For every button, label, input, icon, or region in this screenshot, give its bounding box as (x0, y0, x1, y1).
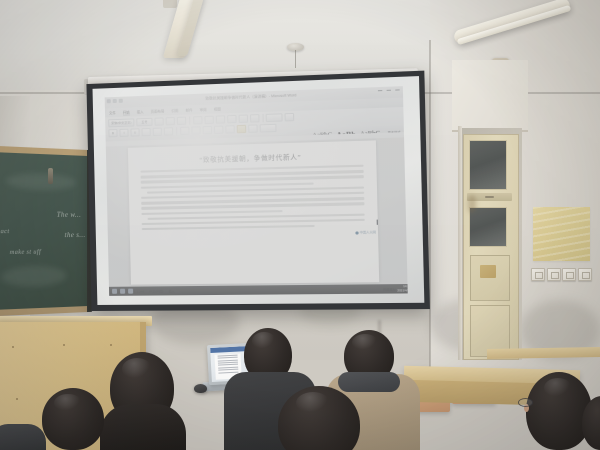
hair-drape (100, 404, 186, 450)
align-center-icon[interactable] (213, 126, 222, 134)
document-text-line (142, 219, 365, 226)
wall-paper-patch (533, 207, 590, 261)
taskbar-clock[interactable]: 14:06 2021/4/13 (397, 285, 407, 293)
redo-icon[interactable] (119, 98, 123, 102)
borders-icon[interactable] (259, 124, 276, 133)
laptop-word-titlebar (210, 346, 249, 353)
strikethrough-icon[interactable] (142, 128, 151, 136)
windows-taskbar[interactable]: 14:06 2021/4/13 (109, 284, 408, 296)
document-page[interactable]: “致敬抗美援朝，争做时代新人” (128, 140, 379, 284)
socket-icon (582, 272, 590, 279)
power-outlet[interactable] (578, 268, 592, 281)
detector-wire (295, 50, 296, 68)
laptop-text-line (218, 371, 238, 373)
wall-corner-edge (429, 40, 431, 370)
shrink-font-icon[interactable] (166, 117, 175, 125)
power-outlet-row[interactable] (531, 268, 592, 281)
align-left-icon[interactable] (202, 126, 211, 134)
document-text-line (141, 210, 282, 215)
multilevel-list-icon[interactable] (215, 115, 224, 123)
italic-icon[interactable]: I (119, 129, 128, 137)
increase-indent-icon[interactable] (238, 115, 248, 123)
quick-access-toolbar[interactable] (107, 98, 123, 103)
podium-screw (12, 346, 14, 348)
align-right-icon[interactable] (225, 125, 235, 133)
underline-icon[interactable]: U (130, 128, 139, 136)
door-glass-pane-bottom (469, 207, 507, 247)
projected-word-window[interactable]: 致敬抗美援朝争做时代新人（演讲稿）- Microsoft Word 文件 开始 … (105, 86, 408, 296)
switch-rocker-icon (535, 272, 543, 279)
door-stain (468, 195, 476, 213)
chalk-note: The w... (57, 211, 81, 219)
podium-screw (16, 398, 18, 400)
clock-date: 2021/4/13 (397, 288, 407, 292)
decrease-indent-icon[interactable] (227, 115, 237, 123)
door-transom (452, 60, 528, 132)
chalk-smudge (1, 265, 66, 287)
chalk-note: t n act (0, 229, 10, 235)
scarf (338, 372, 400, 392)
numbering-icon[interactable] (204, 116, 213, 124)
tab-view[interactable]: 视图 (214, 106, 221, 111)
torso (0, 424, 46, 450)
door-handle[interactable] (48, 168, 53, 184)
clear-format-icon[interactable] (177, 117, 186, 125)
light-switch[interactable] (531, 268, 545, 281)
far-desk (487, 347, 600, 359)
ribbon-divider (189, 117, 190, 125)
chalk-smudge (6, 172, 77, 190)
document-title: “致敬抗美援朝，争做时代新人” (140, 150, 363, 165)
window-controls[interactable] (378, 89, 400, 91)
power-outlet[interactable] (562, 268, 576, 281)
document-canvas[interactable]: “致敬抗美援朝，争做时代新人” (106, 137, 408, 286)
start-icon[interactable] (112, 289, 117, 294)
door-panel-upper (470, 255, 510, 301)
computer-mouse[interactable] (194, 384, 207, 393)
ribbon-divider (262, 114, 263, 122)
document-text-line (142, 225, 315, 231)
text-caret (377, 220, 378, 225)
hair-highlight (122, 358, 152, 380)
watermark-text: 中国人大网 (360, 230, 376, 234)
tab-file[interactable]: 文件 (109, 110, 116, 115)
tab-mailings[interactable]: 邮件 (185, 107, 192, 112)
text-highlight-icon[interactable] (180, 127, 189, 135)
chalk-note: make st uff (10, 249, 41, 256)
light-switch[interactable] (547, 268, 561, 281)
undo-icon[interactable] (113, 98, 117, 102)
hair-highlight (544, 378, 572, 398)
save-icon[interactable] (107, 99, 111, 103)
door-patch (480, 265, 496, 278)
line-spacing-icon[interactable] (266, 113, 283, 122)
door-latch-icon[interactable] (485, 196, 494, 199)
blackboard: The w... the s... t n act make st uff (0, 151, 88, 311)
hair-highlight (252, 332, 276, 350)
screen-surface: 致敬抗美援朝争做时代新人（演讲稿）- Microsoft Word 文件 开始 … (93, 76, 425, 305)
minimize-icon[interactable] (378, 90, 382, 91)
door-glass-pane-top (469, 140, 507, 190)
tab-references[interactable]: 引用 (171, 108, 178, 113)
door-frame (458, 126, 462, 360)
ribbon-divider (176, 127, 177, 135)
switch-rocker-icon (551, 272, 559, 279)
shading-icon[interactable] (248, 124, 258, 132)
socket-icon (566, 272, 574, 279)
explorer-taskbar-icon[interactable] (128, 289, 133, 294)
align-justify-icon[interactable] (236, 125, 246, 133)
restore-icon[interactable] (387, 90, 391, 91)
subscript-icon[interactable] (153, 128, 162, 136)
bold-icon[interactable]: B (108, 129, 117, 137)
grow-font-icon[interactable] (154, 117, 163, 125)
font-size-combo[interactable]: 五号 (136, 118, 152, 127)
light-mount-plate (163, 0, 177, 8)
eyeglasses (518, 398, 533, 407)
close-icon[interactable] (395, 89, 399, 90)
word-title-text: 致敬抗美援朝争做时代新人（演讲稿）- Microsoft Word (205, 93, 296, 101)
show-marks-icon[interactable] (285, 113, 295, 122)
podium-screw (110, 344, 112, 346)
chalk-note: the s... (65, 231, 86, 239)
word-taskbar-icon[interactable] (120, 289, 125, 294)
hair-highlight (352, 334, 378, 351)
tab-insert[interactable]: 插入 (137, 109, 144, 114)
bullets-icon[interactable] (193, 116, 202, 124)
classroom-photo-scene: The w... the s... t n act make st uff Si… (0, 0, 600, 450)
tab-review[interactable]: 审阅 (200, 107, 207, 112)
sort-icon[interactable] (249, 114, 259, 123)
font-color-icon[interactable] (191, 126, 200, 134)
podium-screw (63, 344, 65, 346)
tab-pagelayout[interactable]: 页面布局 (151, 108, 165, 114)
tab-home[interactable]: 开始 (123, 109, 130, 115)
classroom-door[interactable] (463, 134, 519, 360)
projector-screen: 致敬抗美援朝争做时代新人（演讲稿）- Microsoft Word 文件 开始 … (86, 71, 430, 311)
hair-highlight (296, 392, 330, 414)
font-name-combo[interactable]: 宋体(中文正文) (108, 118, 134, 127)
document-watermark: 中国人大网 (355, 230, 376, 235)
hair-highlight (54, 394, 82, 412)
watermark-icon (355, 231, 358, 234)
superscript-icon[interactable] (164, 127, 173, 135)
